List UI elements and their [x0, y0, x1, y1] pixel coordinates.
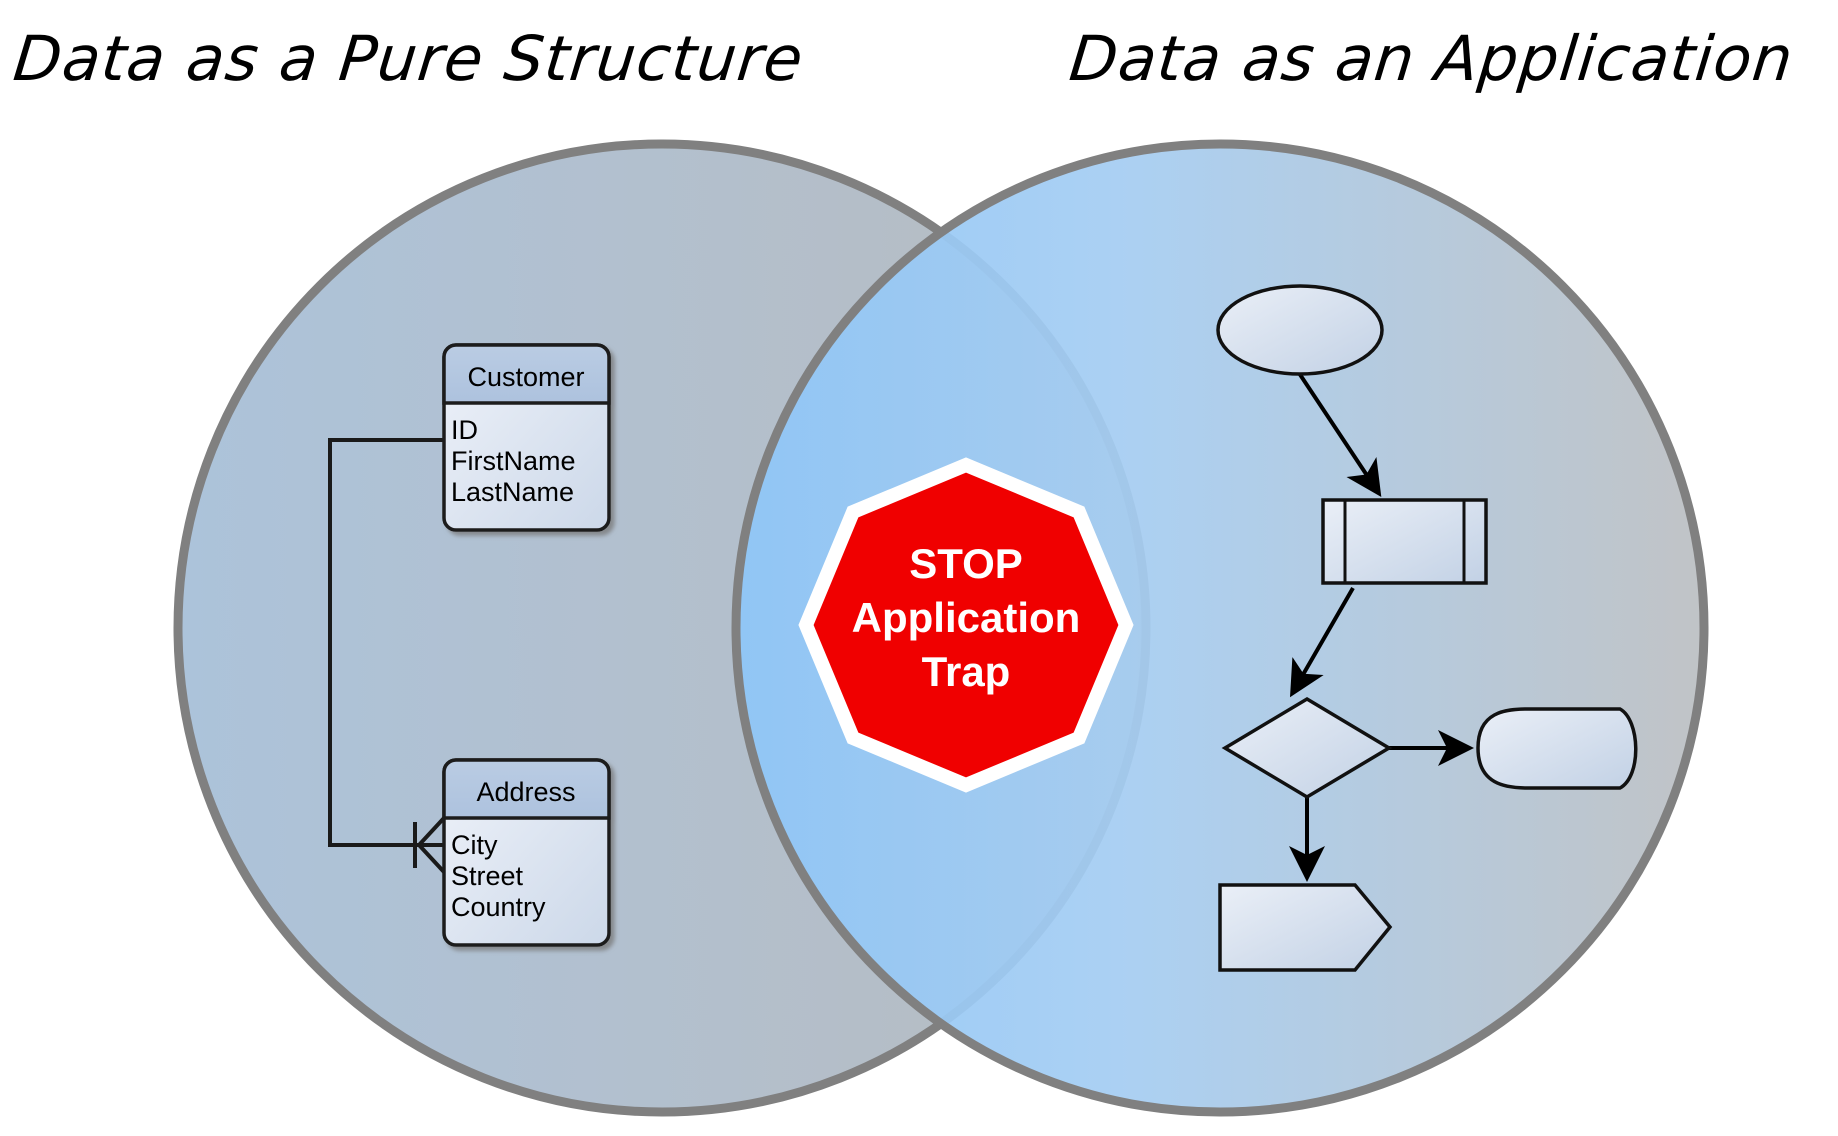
entity-customer-attribute-0: ID — [451, 415, 478, 445]
entity-customer-title: Customer — [467, 362, 584, 392]
entity-address-attribute-2: Country — [451, 892, 546, 922]
entity-address-title: Address — [476, 777, 575, 807]
entity-customer[interactable]: Customer ID FirstName LastName — [444, 345, 609, 530]
stop-sign-line-2: Trap — [922, 648, 1011, 695]
stop-sign-line-0: STOP — [909, 540, 1023, 587]
flowchart-predefined-process[interactable] — [1323, 500, 1486, 583]
flowchart-delay-shape[interactable] — [1478, 709, 1636, 788]
entity-customer-attribute-1: FirstName — [451, 446, 576, 476]
stop-sign[interactable]: STOP Application Trap — [806, 465, 1126, 785]
entity-address-attribute-1: Street — [451, 861, 524, 891]
stop-sign-line-1: Application — [852, 594, 1081, 641]
entity-address-attribute-0: City — [451, 830, 498, 860]
venn-diagram-canvas: Data as a Pure Structure Data as an Appl… — [0, 0, 1838, 1136]
entity-address[interactable]: Address City Street Country — [444, 760, 609, 945]
diagram-graphics: Customer ID FirstName LastName Address C… — [0, 0, 1838, 1136]
flowchart-output-arrow-shape[interactable] — [1220, 885, 1390, 970]
entity-customer-attribute-2: LastName — [451, 477, 574, 507]
flowchart-start-ellipse[interactable] — [1218, 286, 1382, 374]
